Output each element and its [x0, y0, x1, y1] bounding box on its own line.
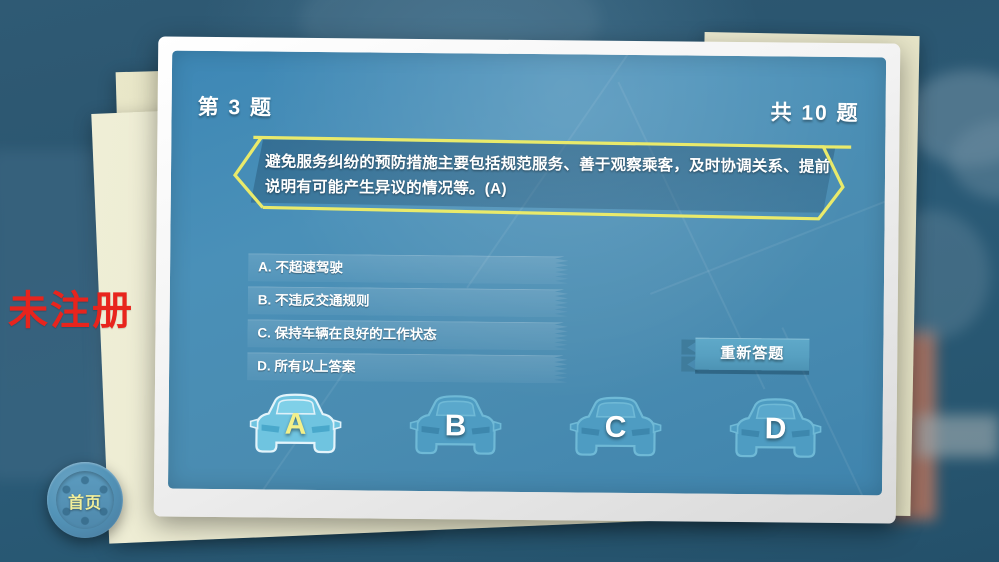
background-building-5	[915, 415, 999, 457]
car-button-a[interactable]: A	[248, 387, 343, 460]
quiz-card: 第 3 题 共 10 题 避免服务纠纷的预防措施主要包括规范服务、善于观察乘客，…	[168, 51, 886, 496]
car-letter-a: A	[248, 407, 342, 442]
home-button[interactable]: 首页	[47, 462, 123, 538]
car-answer-buttons: A B	[246, 387, 835, 471]
question-text: 避免服务纠纷的预防措施主要包括规范服务、善于观察乘客，及时协调关系、提前说明有可…	[265, 149, 835, 204]
answer-options-list: A. 不超速驾驶 B. 不违反交通规则 C. 保持车辆在良好的工作状态 D. 所…	[247, 253, 578, 388]
question-counter: 第 3 题	[198, 91, 274, 122]
unregistered-watermark: 未注册	[8, 278, 134, 336]
answer-option-a-label: A. 不超速驾驶	[248, 253, 578, 284]
car-letter-d: D	[728, 412, 822, 447]
answer-option-c[interactable]: C. 保持车辆在良好的工作状态	[247, 319, 577, 350]
answer-option-b[interactable]: B. 不违反交通规则	[248, 286, 578, 317]
answer-option-d-label: D. 所有以上答案	[247, 352, 577, 383]
car-button-d[interactable]: D	[728, 392, 823, 465]
answer-option-b-label: B. 不违反交通规则	[248, 286, 578, 317]
question-total: 共 10 题	[770, 96, 859, 127]
answer-option-d[interactable]: D. 所有以上答案	[247, 352, 577, 383]
car-button-c[interactable]: C	[568, 390, 663, 463]
car-letter-c: C	[568, 410, 662, 445]
question-total-label: 共 10 题	[770, 101, 859, 125]
quiz-card-frame: 第 3 题 共 10 题 避免服务纠纷的预防措施主要包括规范服务、善于观察乘客，…	[154, 36, 901, 523]
home-button-label: 首页	[47, 489, 123, 513]
answer-option-a[interactable]: A. 不超速驾驶	[248, 253, 578, 284]
car-letter-b: B	[408, 409, 502, 444]
answer-option-c-label: C. 保持车辆在良好的工作状态	[247, 319, 577, 350]
car-button-b[interactable]: B	[408, 389, 503, 462]
question-counter-label: 第 3 题	[198, 96, 274, 120]
retry-button[interactable]: 重新答题	[681, 337, 809, 376]
retry-button-label: 重新答题	[695, 338, 809, 371]
question-banner: 避免服务纠纷的预防措施主要包括规范服务、善于观察乘客，及时协调关系、提前说明有可…	[223, 135, 852, 223]
